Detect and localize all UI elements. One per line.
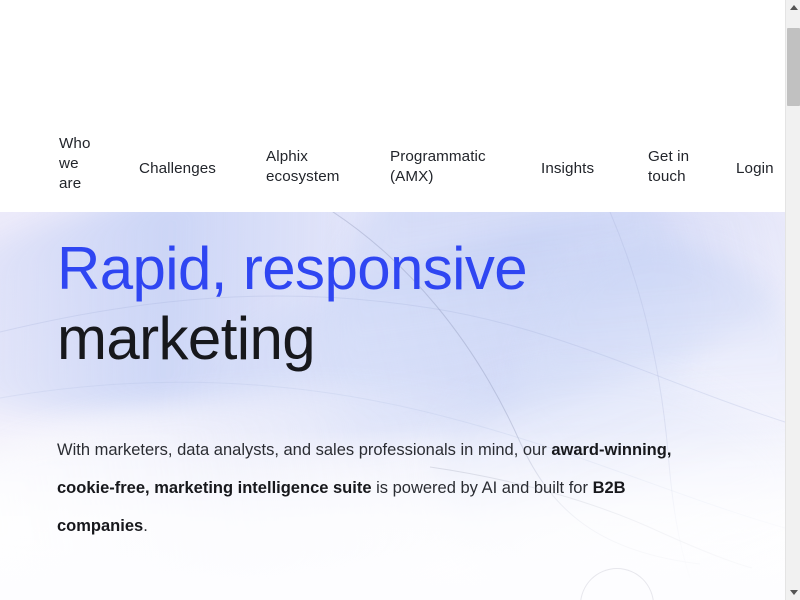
hero-paragraph-part1: With marketers, data analysts, and sales… bbox=[57, 441, 551, 459]
nav-item-programmatic-amx[interactable]: Programmatic (AMX) bbox=[390, 147, 515, 187]
hero-paragraph: With marketers, data analysts, and sales… bbox=[57, 431, 697, 545]
scroll-down-button[interactable] bbox=[786, 585, 800, 600]
site-header: Who we are Challenges Alphix ecosystem P… bbox=[0, 0, 785, 212]
page-title: Rapid, responsive marketing bbox=[57, 234, 728, 374]
hero-section: Rapid, responsive marketing With markete… bbox=[0, 212, 785, 600]
browser-page: Who we are Challenges Alphix ecosystem P… bbox=[0, 0, 800, 600]
scroll-up-button[interactable] bbox=[786, 0, 800, 15]
nav-item-login[interactable]: Login bbox=[736, 159, 785, 179]
nav-item-who-we-are[interactable]: Who we are bbox=[59, 134, 111, 194]
hero-content: Rapid, responsive marketing With markete… bbox=[0, 234, 785, 545]
headline-second-line: marketing bbox=[57, 304, 728, 374]
hero-paragraph-part2: is powered by AI and built for bbox=[372, 479, 593, 497]
nav-item-challenges[interactable]: Challenges bbox=[139, 159, 234, 179]
scroll-up-arrow-icon bbox=[790, 5, 798, 10]
nav-item-alphix-ecosystem[interactable]: Alphix ecosystem bbox=[266, 147, 366, 187]
nav-item-get-in-touch[interactable]: Get in touch bbox=[648, 147, 708, 187]
headline-accent-line: Rapid, responsive bbox=[57, 234, 728, 304]
vertical-scrollbar[interactable] bbox=[785, 0, 800, 600]
hero-paragraph-part3: . bbox=[143, 517, 148, 535]
scroll-down-arrow-icon bbox=[790, 590, 798, 595]
main-navigation: Who we are Challenges Alphix ecosystem P… bbox=[0, 62, 785, 154]
page-viewport: Who we are Challenges Alphix ecosystem P… bbox=[0, 0, 785, 600]
nav-item-insights[interactable]: Insights bbox=[541, 159, 611, 179]
scrollbar-thumb[interactable] bbox=[787, 28, 800, 106]
